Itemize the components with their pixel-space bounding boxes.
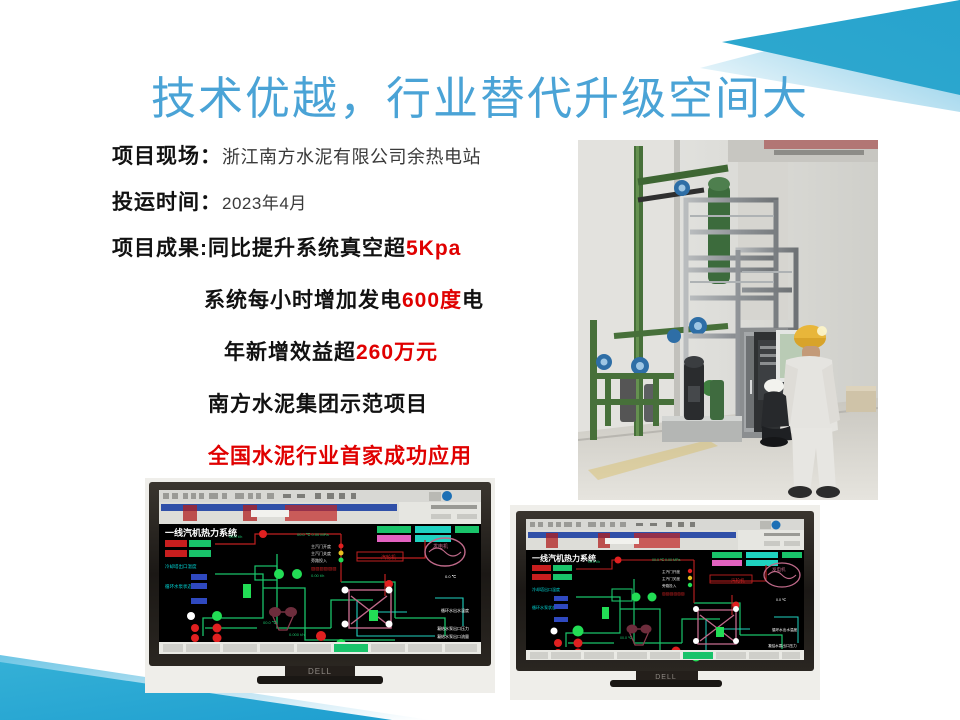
result-line-benefit: 年新增效益超260万元	[224, 336, 582, 366]
result-line-power: 系统每小时增加发电600度电	[204, 284, 582, 314]
fact-row-site: 项目现场： 浙江南方水泥有限公司余热电站	[112, 140, 582, 170]
svg-text:0.0 ℃: 0.0 ℃	[445, 574, 457, 579]
result-tail-power: 电	[462, 289, 484, 312]
fact-label-site: 项目现场：	[112, 140, 222, 170]
result-highlight-benefit: 260万元	[356, 341, 438, 364]
svg-text:冷却塔出口温度: 冷却塔出口温度	[532, 586, 560, 592]
slide-canvas: 技术优越，行业替代升级空间大 项目现场： 浙江南方水泥有限公司余热电站 投运时间…	[0, 0, 960, 720]
svg-text:00.0 ℃: 00.0 ℃	[620, 636, 633, 640]
svg-text:主汽门开度: 主汽门开度	[662, 569, 680, 574]
svg-text:循环水泵状态: 循环水泵状态	[165, 583, 192, 590]
svg-text:发电机: 发电机	[772, 566, 786, 573]
slide-title: 技术优越，行业替代升级空间大	[0, 62, 960, 127]
svg-text:0.00 t/h: 0.00 t/h	[311, 573, 324, 578]
svg-text:旁路投入: 旁路投入	[311, 557, 327, 563]
svg-text:汽轮机: 汽轮机	[731, 577, 745, 584]
fact-value-site: 浙江南方水泥有限公司余热电站	[222, 143, 481, 169]
result-line-vacuum: 项目成果:同比提升系统真空超5Kpa	[112, 232, 582, 262]
svg-text:凝结水泵出口压力: 凝结水泵出口压力	[768, 643, 797, 648]
svg-text:循环水泵状态: 循环水泵状态	[532, 604, 556, 610]
svg-text:00.0 ℃: 00.0 ℃	[263, 620, 277, 625]
facts-block: 项目现场： 浙江南方水泥有限公司余热电站 投运时间： 2023年4月 项目成果:…	[112, 140, 582, 485]
fact-value-date: 2023年4月	[222, 189, 307, 214]
svg-text:主汽门关度: 主汽门关度	[662, 576, 680, 581]
result-text-vacuum: 同比提升系统真空超	[208, 237, 406, 260]
svg-text:主汽门关度: 主汽门关度	[311, 550, 331, 556]
svg-text:DELL: DELL	[655, 674, 677, 681]
svg-text:0.000 t/h: 0.000 t/h	[289, 632, 305, 637]
fact-label-date: 投运时间：	[112, 186, 222, 216]
result-text-benefit: 年新增效益超	[224, 341, 356, 364]
result-highlight-vacuum: 5Kpa	[406, 237, 461, 260]
result-line-demo: 南方水泥集团示范项目	[208, 388, 582, 418]
svg-text:一线汽机热力系统: 一线汽机热力系统	[165, 527, 237, 538]
svg-text:DELL: DELL	[308, 667, 332, 676]
svg-text:00.0 t/h: 00.0 t/h	[588, 560, 600, 564]
svg-text:0.0 ℃: 0.0 ℃	[776, 598, 787, 602]
result-highlight-power: 600度	[402, 289, 462, 312]
svg-text:冷却塔出口温度: 冷却塔出口温度	[165, 563, 197, 570]
svg-text:凝结水泵出口压力: 凝结水泵出口压力	[437, 625, 469, 631]
svg-text:凝结水泵出口流量: 凝结水泵出口流量	[437, 633, 469, 639]
svg-text:00.0 ℃ 0.00 MPa: 00.0 ℃ 0.00 MPa	[297, 532, 329, 537]
svg-text:主汽门开度: 主汽门开度	[311, 543, 331, 549]
svg-text:循环水出水温度: 循环水出水温度	[772, 627, 798, 632]
svg-text:00.0 t/h: 00.0 t/h	[229, 534, 242, 539]
photo-monitor-right: 一线汽机热力系统 冷却塔出口温度 循环水泵状态	[510, 505, 820, 700]
photo-plant-site	[578, 140, 878, 500]
result-text-power: 系统每小时增加发电	[204, 289, 402, 312]
fact-row-date: 投运时间： 2023年4月	[112, 186, 582, 216]
svg-text:旁路投入: 旁路投入	[662, 583, 677, 588]
svg-text:循环水出水温度: 循环水出水温度	[441, 607, 469, 613]
photo-monitor-left: 一线汽机热力系统 冷却塔出口温度 循环水泵状态	[145, 478, 495, 693]
svg-text:汽轮机: 汽轮机	[381, 554, 396, 561]
svg-text:▨▨▨▨▨▨: ▨▨▨▨▨▨	[662, 591, 685, 596]
svg-text:▨▨▨▨▨▨: ▨▨▨▨▨▨	[311, 566, 337, 571]
result-line-first-application: 全国水泥行业首家成功应用	[208, 440, 582, 470]
svg-text:发电机: 发电机	[433, 543, 448, 550]
svg-text:00.0 ℃ 0.00 MPa: 00.0 ℃ 0.00 MPa	[652, 558, 680, 562]
svg-text:一线汽机热力系统: 一线汽机热力系统	[532, 553, 596, 563]
result-label-outcome: 项目成果:	[112, 237, 208, 260]
